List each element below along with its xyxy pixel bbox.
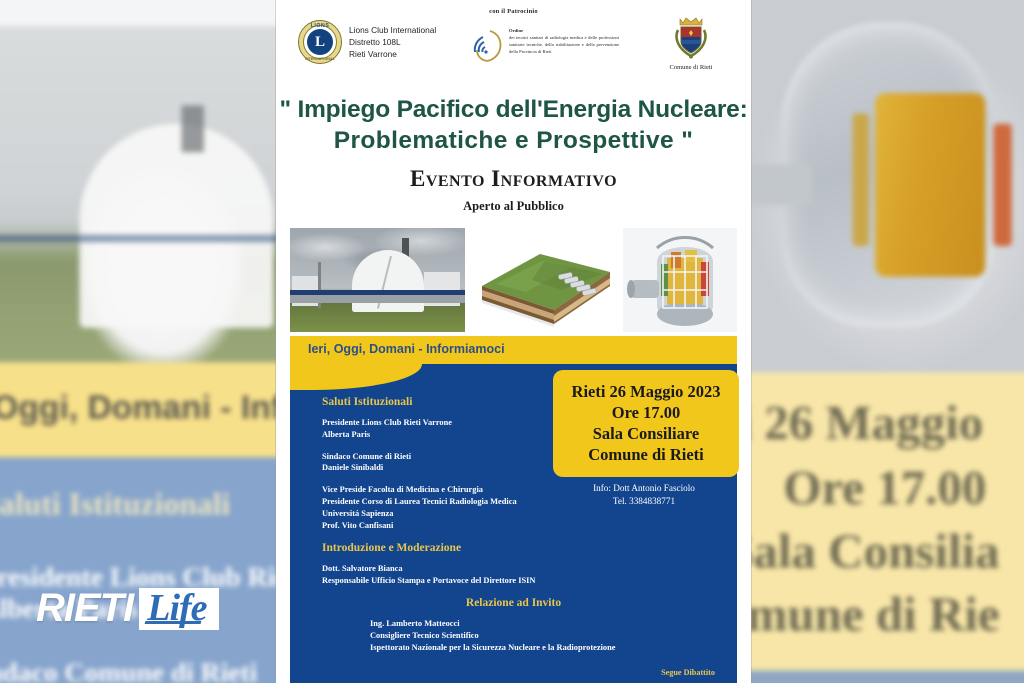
rieti-life-watermark: RIETI Life bbox=[36, 586, 219, 631]
photo-reactor-vessel bbox=[623, 228, 737, 332]
ribbon-text: Ieri, Oggi, Domani - Informiamoci bbox=[308, 342, 505, 356]
contact-name: Info: Dott Antonio Fasciolo bbox=[551, 482, 737, 495]
background-dome-shape bbox=[80, 124, 274, 328]
section-title-introduction: Introduzione e Moderazione bbox=[322, 542, 719, 554]
background-vessel-photo bbox=[740, 0, 1024, 373]
poster-header: con il Patrocinio LIONS INTERNATIONAL L … bbox=[276, 0, 751, 92]
program-footer-note: Segue Dibattito bbox=[308, 668, 719, 677]
background-right-yellow-box: ti 26 Maggio Ore 17.00 Sala Consilia omu… bbox=[740, 373, 1024, 671]
background-right-line-4: omune di Rie bbox=[740, 587, 999, 643]
poster-photo-strip bbox=[290, 228, 737, 332]
entry-role-2: Ispettorato Nazionale per la Sicurezza N… bbox=[370, 642, 719, 654]
watermark-life-box: Life bbox=[139, 588, 218, 630]
photo-nuclear-plant bbox=[290, 228, 465, 332]
entry-name: Prof. Vito Canfisani bbox=[322, 520, 719, 532]
background-blue-panel: Saluti Istituzionali Presidente Lions Cl… bbox=[0, 457, 288, 683]
ordine-tsrm-logo-block: Ordine dei tecnici sanitari di radiologi… bbox=[470, 28, 619, 66]
background-right-crop: ti 26 Maggio Ore 17.00 Sala Consilia omu… bbox=[740, 0, 1024, 683]
lions-club-text: Lions Club International Distretto 108L … bbox=[349, 24, 436, 60]
poster-open-note: Aperto al Pubblico bbox=[276, 199, 751, 214]
poster-ribbon: Ieri, Oggi, Domani - Informiamoci bbox=[290, 336, 737, 364]
background-left-crop: , Oggi, Domani - Inf Saluti Istituzional… bbox=[0, 0, 288, 683]
entry-role-3: Universitá Sapienza bbox=[322, 508, 719, 520]
background-core-shape bbox=[875, 93, 985, 277]
background-right-line-3: Sala Consilia bbox=[740, 524, 999, 580]
ordine-title: Ordine bbox=[509, 28, 619, 35]
photo-geological-repository bbox=[474, 228, 614, 332]
poster-subtitle: Evento Informativo bbox=[276, 166, 751, 192]
background-vessel-shape bbox=[781, 22, 995, 328]
ordine-tsrm-text: Ordine dei tecnici sanitari di radiologi… bbox=[509, 28, 619, 56]
background-bottom-strip bbox=[740, 670, 1024, 683]
poster-title-line-1: " Impiego Pacifico dell'Energia Nucleare… bbox=[276, 94, 751, 125]
watermark-life-text: Life bbox=[147, 589, 206, 627]
background-reactor-photo bbox=[0, 26, 288, 363]
lions-line-3: Rieti Varrone bbox=[349, 48, 436, 60]
background-stack-shape bbox=[182, 105, 204, 152]
contact-phone: Tel. 3384838771 bbox=[551, 495, 737, 508]
background-right-line-1: ti 26 Maggio bbox=[740, 395, 983, 451]
event-date: Rieti 26 Maggio 2023 bbox=[559, 381, 733, 402]
background-ribbon-text: , Oggi, Domani - Inf bbox=[0, 388, 282, 427]
background-nozzle-shape bbox=[749, 165, 812, 206]
poster-title: " Impiego Pacifico dell'Energia Nucleare… bbox=[276, 94, 751, 157]
lions-emblem-bottom-text: INTERNATIONAL bbox=[298, 57, 342, 61]
poster-title-line-2: Problematiche e Prospettive " bbox=[276, 125, 751, 156]
program-entry: Ing. Lamberto Matteocci Consigliere Tecn… bbox=[370, 618, 719, 654]
watermark-rieti-text: RIETI bbox=[36, 586, 139, 631]
poster-body: Rieti 26 Maggio 2023 Ore 17.00 Sala Cons… bbox=[290, 364, 737, 683]
lions-line-2: Distretto 108L bbox=[349, 36, 436, 48]
lions-club-logo-block: LIONS INTERNATIONAL L Lions Club Interna… bbox=[298, 20, 436, 64]
event-details-box: Rieti 26 Maggio 2023 Ore 17.00 Sala Cons… bbox=[553, 370, 739, 477]
lions-line-1: Lions Club International bbox=[349, 24, 436, 36]
event-time: Ore 17.00 bbox=[559, 402, 733, 423]
background-blue-line-1: Saluti Istituzionali bbox=[0, 486, 230, 523]
comune-di-rieti-logo-block: Comune di Rieti bbox=[653, 14, 729, 71]
event-venue: Sala Consiliare bbox=[559, 423, 733, 444]
event-poster: con il Patrocinio LIONS INTERNATIONAL L … bbox=[276, 0, 751, 683]
comune-label: Comune di Rieti bbox=[653, 64, 729, 71]
lions-emblem-letter: L bbox=[307, 29, 333, 55]
background-blue-line-4: indaco Comune di Rieti bbox=[0, 657, 257, 683]
ordine-spiral-icon bbox=[470, 28, 504, 66]
program-entry: Dott. Salvatore Bianca Responsabile Uffi… bbox=[322, 563, 719, 587]
lions-emblem-icon: LIONS INTERNATIONAL L bbox=[298, 20, 342, 64]
comune-crest-icon bbox=[672, 14, 710, 62]
entry-role: Responsabile Ufficio Stampa e Portavoce … bbox=[322, 575, 719, 587]
ordine-body: dei tecnici sanitari di radiologia medic… bbox=[509, 35, 619, 54]
entry-name: Dott. Salvatore Bianca bbox=[322, 563, 719, 575]
event-venue-org: Comune di Rieti bbox=[559, 444, 733, 465]
entry-name: Ing. Lamberto Matteocci bbox=[370, 618, 719, 630]
entry-role: Consigliere Tecnico Scientifico bbox=[370, 630, 719, 642]
event-contact: Info: Dott Antonio Fasciolo Tel. 3384838… bbox=[551, 482, 737, 509]
section-title-invited-talk: Relazione ad Invito bbox=[308, 597, 719, 609]
background-right-line-2: Ore 17.00 bbox=[783, 460, 986, 516]
